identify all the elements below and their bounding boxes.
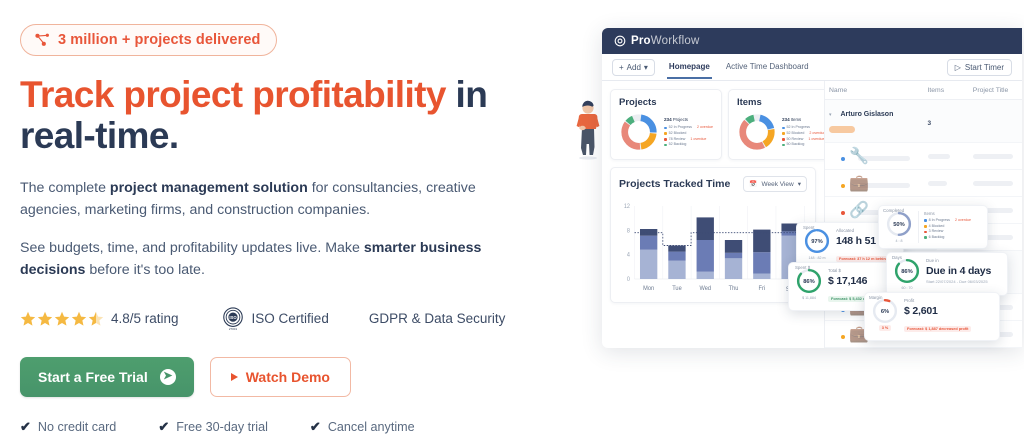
donut-cards-row: Projects 234 Projects: [610, 89, 816, 160]
iso-certified-icon: ISO 27001: [221, 307, 245, 331]
legend-note: 2 overdue: [955, 218, 971, 224]
delivered-badge: 3 million + projects delivered: [20, 24, 277, 56]
brand-bold: Pro: [631, 35, 651, 47]
spent-time-label: Spent: [803, 225, 814, 230]
completed-label: Completed: [883, 208, 904, 213]
check-label: Cancel anytime: [328, 420, 415, 434]
star-rating: [20, 311, 104, 327]
row-name-cell: 🔧: [825, 143, 924, 170]
group-title-cell: [969, 100, 1022, 143]
due-days-ring: 86%: [894, 258, 920, 284]
hero-paragraph-1: The complete project management solution…: [20, 177, 510, 221]
start-free-trial-label: Start a Free Trial: [38, 369, 148, 385]
iso-label: ISO Certified: [252, 311, 329, 326]
due-days-ring-sub: 60 : 70: [902, 286, 913, 290]
completed-items-title: Items: [924, 211, 980, 216]
svg-text:0: 0: [627, 277, 630, 283]
row-title-cell: [969, 143, 1022, 170]
column-items: Items: [924, 81, 969, 100]
row-name-cell: 💼: [825, 170, 924, 197]
legend-note: 1 overdue: [690, 137, 706, 143]
legend-label: 6 Backlog: [929, 235, 945, 241]
hero-section: 3 million + projects delivered Track pro…: [0, 0, 1024, 402]
margin-ring-value: 6%: [881, 309, 889, 315]
para2-c: before it's too late.: [85, 262, 204, 278]
table-row[interactable]: 🔧: [825, 143, 1022, 170]
play-icon: [231, 373, 238, 381]
bar-fri: [753, 230, 770, 279]
items-donut-card: Items 234 Items: [728, 89, 834, 160]
watch-demo-button[interactable]: Watch Demo: [210, 357, 351, 397]
check-item-no-credit-card: ✔ No credit card: [20, 420, 116, 434]
bar-wed: [697, 217, 714, 279]
check-icon: ✔: [20, 420, 31, 433]
spent-money-label: Spent $: [795, 265, 810, 270]
star-icon: [71, 311, 87, 327]
status-dot-icon: [841, 211, 845, 215]
row-skeleton: [928, 181, 947, 186]
profit-label: Profit: [904, 298, 992, 303]
row-skeleton: [973, 154, 1013, 159]
svg-text:8: 8: [627, 228, 630, 234]
table-row[interactable]: 💼: [825, 170, 1022, 197]
app-brand: ProWorkflow: [614, 35, 699, 47]
svg-text:4: 4: [627, 253, 631, 259]
svg-text:Thu: Thu: [729, 286, 739, 292]
tab-active-time-dashboard[interactable]: Active Time Dashboard: [724, 56, 811, 79]
total-money-label: Total $: [828, 268, 884, 273]
tracked-time-card: Projects Tracked Time 📅 Week View ▾ 12: [610, 167, 816, 303]
due-days-label: Days: [892, 255, 902, 260]
chevron-down-icon: ▾: [644, 63, 648, 72]
app-brand-text: ProWorkflow: [631, 35, 699, 47]
check-label: Free 30-day trial: [176, 420, 268, 434]
svg-text:Tue: Tue: [672, 286, 682, 292]
check-label: No credit card: [38, 420, 116, 434]
row-items-cell: [924, 348, 969, 349]
play-icon: ▷: [955, 63, 961, 72]
week-view-label: Week View: [761, 181, 793, 188]
items-donut-chart: [737, 112, 777, 152]
iso-group: ISO 27001 ISO Certified: [221, 307, 329, 331]
spent-money-ring-value: 86%: [803, 279, 815, 285]
group-name-label: Arturo Gislason: [840, 111, 893, 118]
wrench-icon: 🔧: [849, 146, 854, 151]
row-title-cell: [969, 170, 1022, 197]
check-item-cancel-anytime: ✔ Cancel anytime: [310, 420, 415, 434]
watch-demo-label: Watch Demo: [246, 369, 330, 385]
briefcase-icon: 💼: [849, 173, 854, 178]
svg-text:ISO: ISO: [229, 315, 237, 320]
tab-active-time-dashboard-label: Active Time Dashboard: [726, 62, 809, 71]
group-pill: [829, 126, 855, 133]
page-title: Track project profitability in real-time…: [20, 74, 540, 157]
svg-text:27001: 27001: [228, 327, 237, 331]
start-timer-label: Start Timer: [965, 63, 1004, 72]
legend-label: 52 Backlog: [669, 142, 687, 148]
items-count: 234: [782, 117, 790, 122]
start-timer-button[interactable]: ▷ Start Timer: [947, 59, 1012, 76]
completed-ring-value: 50%: [893, 222, 905, 228]
legend-label: 50 Backlog: [787, 142, 805, 148]
status-dot-icon: [841, 184, 845, 188]
start-free-trial-button[interactable]: Start a Free Trial ➤: [20, 357, 194, 397]
star-half-icon: [88, 311, 104, 327]
completed-ring: 50%: [886, 211, 912, 237]
check-icon: ✔: [310, 420, 321, 433]
due-days-ring-value: 86%: [901, 269, 913, 275]
margin-ring: 6%: [872, 298, 898, 324]
plus-icon: +: [619, 63, 624, 72]
feature-checks: ✔ No credit card ✔ Free 30-day trial ✔ C…: [20, 420, 540, 434]
due-in-dates: Start 22/07/2024 - Due 06/03/2025: [926, 279, 1000, 284]
para2-a: See budgets, time, and profitability upd…: [20, 240, 364, 256]
svg-text:Fri: Fri: [759, 286, 766, 292]
calendar-icon: 📅: [749, 180, 757, 188]
trust-row: 4.8/5 rating ISO 27001 ISO Certified GDP…: [20, 307, 540, 331]
group-items-count: 3: [928, 120, 932, 127]
due-in-widget: 86% 60 : 70 Due in Due in 4 days Start 2…: [886, 252, 1008, 296]
hero-left-column: 3 million + projects delivered Track pro…: [20, 0, 540, 402]
tab-homepage[interactable]: Homepage: [667, 56, 712, 79]
completed-items-legend: 8 In Progress2 overdue 4 Blocked 3 Revie…: [924, 218, 980, 240]
bar-thu: [725, 240, 742, 279]
due-in-value: Due in 4 days: [926, 265, 1000, 277]
row-skeleton: [973, 181, 1013, 186]
rating-label: 4.8/5 rating: [111, 311, 179, 326]
gear-icon: [614, 35, 626, 47]
svg-text:12: 12: [624, 204, 630, 210]
status-dot-icon: [841, 335, 845, 339]
svg-text:Mon: Mon: [643, 286, 654, 292]
due-in-label: Due in: [926, 258, 1000, 263]
star-icon: [37, 311, 53, 327]
margin-delta-chip: 3 %: [879, 325, 892, 331]
cta-row: Start a Free Trial ➤ Watch Demo: [20, 357, 540, 397]
para1-bold: project management solution: [110, 180, 308, 196]
spent-time-ring: 97%: [804, 228, 830, 254]
share-nodes-icon: [35, 33, 50, 47]
row-items-cell: [924, 143, 969, 170]
items-donut-title: Items: [737, 97, 825, 108]
headline-line2: real-time.: [20, 115, 179, 156]
completed-ring-sub: 4 : 8: [896, 239, 903, 243]
projects-donut-legend: 234 Projects 52 In Progress2 overdue 52 …: [664, 116, 713, 147]
group-name-cell: ▾ Arturo Gislason: [825, 100, 924, 143]
column-name: Name: [825, 81, 924, 100]
spent-time-ring-sub: 148 : 82 m: [809, 256, 826, 260]
margin-profit-widget: 6% 3 % Profit $ 2,601 Forecast: $ 1,887 …: [864, 292, 1000, 341]
arrow-right-circle-icon: ➤: [160, 369, 176, 385]
status-dot-icon: [841, 157, 845, 161]
headline-highlight: Track project profitability: [20, 74, 446, 115]
delivered-badge-label: 3 million + projects delivered: [58, 32, 260, 48]
row-title-cell: [969, 348, 1022, 349]
row-skeleton: [928, 154, 950, 159]
tracked-time-title: Projects Tracked Time: [619, 178, 730, 190]
add-label: Add: [627, 63, 641, 72]
projects-donut-title: Projects: [619, 97, 713, 108]
spent-time-ring-value: 97%: [811, 239, 823, 245]
star-icon: [20, 311, 36, 327]
table-group-row[interactable]: ▾ Arturo Gislason 3: [825, 100, 1022, 143]
projects-donut-card: Projects 234 Projects: [610, 89, 722, 160]
bar-tue: [668, 246, 685, 280]
row-name-cell: 💼: [825, 348, 924, 349]
items-donut-legend: 234 Items 52 In Progress 52 Blocked2 ove…: [782, 116, 825, 147]
table-header-row: Name Items Project Title: [825, 81, 1022, 100]
table-row[interactable]: 💼: [825, 348, 1022, 349]
spent-money-ring-sub: $ 11,884: [802, 296, 816, 300]
para1-a: The complete: [20, 180, 110, 196]
svg-text:Wed: Wed: [699, 286, 711, 292]
app-title-bar: ProWorkflow: [602, 28, 1022, 54]
hero-paragraph-2: See budgets, time, and profitability upd…: [20, 237, 510, 281]
gdpr-label: GDPR & Data Security: [369, 311, 506, 326]
check-icon: ✔: [158, 420, 169, 433]
week-view-dropdown[interactable]: 📅 Week View ▾: [743, 176, 807, 192]
briefcase-icon: 💼: [849, 324, 854, 329]
headline-rest: in: [446, 74, 487, 115]
row-items-cell: [924, 170, 969, 197]
add-button[interactable]: + Add ▾: [612, 59, 655, 76]
chevron-down-icon[interactable]: ▾: [829, 112, 836, 118]
rating-group: 4.8/5 rating: [20, 311, 179, 327]
tracked-time-chart: 12 8 4 0: [619, 198, 807, 294]
legend-note: 1 overdue: [808, 137, 824, 143]
total-money-value: $ 17,146: [828, 275, 884, 287]
group-items-cell: 3: [924, 100, 969, 143]
chevron-down-icon: ▾: [798, 180, 801, 188]
profit-value: $ 2,601: [904, 305, 992, 317]
brand-light: Workflow: [651, 35, 700, 47]
bar-chart-svg: 12 8 4 0: [619, 198, 807, 294]
projects-count-unit: Projects: [673, 117, 688, 122]
tab-homepage-label: Homepage: [669, 62, 710, 71]
column-project-title: Project Title: [969, 81, 1022, 100]
items-count-unit: Items: [791, 117, 801, 122]
margin-label: Margin: [869, 295, 882, 300]
projects-count: 234: [664, 117, 672, 122]
link-icon: 🔗: [849, 200, 854, 205]
check-item-free-trial: ✔ Free 30-day trial: [158, 420, 268, 434]
spent-money-ring: 86%: [796, 268, 822, 294]
app-toolbar: + Add ▾ Homepage Active Time Dashboard ▷…: [602, 54, 1022, 81]
profit-forecast-chip: Forecast: $ 1,887 decreased profit: [904, 326, 971, 332]
bar-mon: [640, 229, 657, 279]
star-icon: [54, 311, 70, 327]
projects-donut-chart: [619, 112, 659, 152]
app-preview: ProWorkflow + Add ▾ Homepage Active Time…: [556, 0, 1024, 402]
legend-note: 2 overdue: [697, 125, 713, 131]
